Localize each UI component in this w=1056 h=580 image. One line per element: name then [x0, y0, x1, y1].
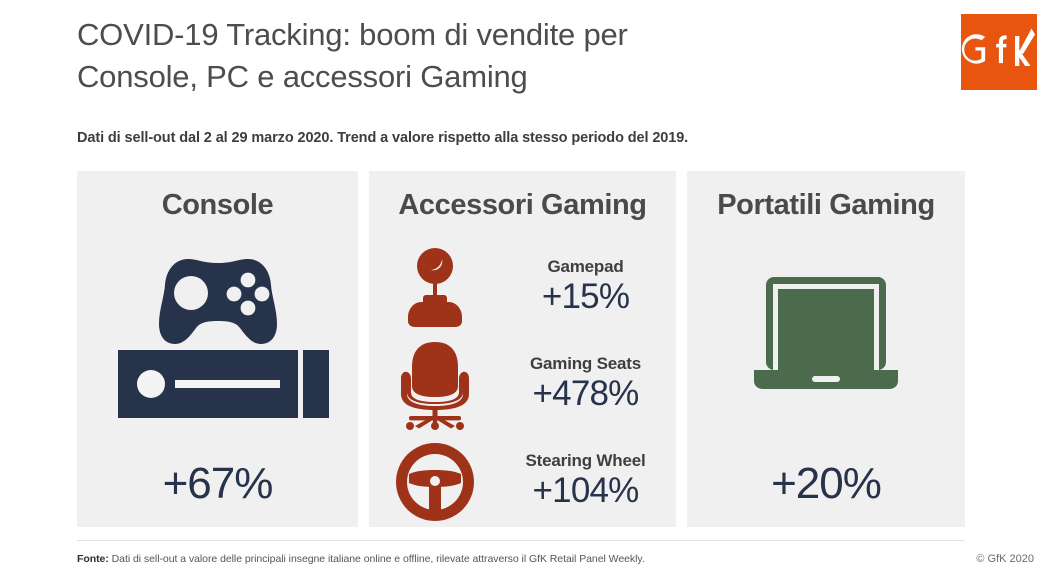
console-box-icon	[118, 350, 329, 418]
gamepad-console-icon	[77, 253, 358, 418]
footer-divider	[77, 540, 965, 541]
accessori-value: +15%	[501, 277, 670, 317]
accessori-text: Gamepad +15%	[501, 258, 676, 318]
footer-copyright: © GfK 2020	[976, 553, 1034, 565]
joystick-icon	[369, 247, 501, 329]
footer-source: Fonte: Dati di sell-out a valore delle p…	[77, 553, 645, 565]
console-illustration	[107, 253, 329, 418]
laptop-illustration	[750, 275, 902, 391]
accessori-text: Stearing Wheel +104%	[501, 452, 676, 512]
steering-wheel-illustration	[394, 441, 476, 523]
accessori-label: Gamepad	[501, 258, 670, 277]
gfk-logo-mark	[961, 14, 1037, 90]
page-header: COVID-19 Tracking: boom di vendite per C…	[77, 14, 937, 98]
gaming-chair-icon	[369, 340, 501, 430]
panel-accessori-gaming: Accessori Gaming Gamepad +15%	[369, 171, 676, 527]
gamepad-icon	[159, 259, 277, 344]
accessori-value: +478%	[501, 374, 670, 414]
gfk-logo	[961, 14, 1037, 90]
accessori-value: +104%	[501, 471, 670, 511]
page-title: COVID-19 Tracking: boom di vendite per C…	[77, 14, 937, 98]
panel-console: Console	[77, 171, 358, 527]
accessori-row: Gaming Seats +478%	[369, 336, 676, 433]
accessori-rows: Gamepad +15%	[369, 239, 676, 530]
accessori-row: Stearing Wheel +104%	[369, 433, 676, 530]
page-subtitle: Dati di sell-out dal 2 al 29 marzo 2020.…	[77, 130, 688, 146]
footer-source-label: Fonte:	[77, 553, 109, 565]
panels-row: Console	[77, 171, 965, 527]
accessori-row: Gamepad +15%	[369, 239, 676, 336]
steering-wheel-icon	[369, 441, 501, 523]
panel-portatili-title: Portatili Gaming	[687, 189, 965, 222]
joystick-illustration	[398, 247, 472, 329]
accessori-label: Gaming Seats	[501, 355, 670, 374]
gaming-chair-illustration	[393, 340, 477, 430]
accessori-label: Stearing Wheel	[501, 452, 670, 471]
panel-console-value: +67%	[77, 459, 358, 509]
panel-accessori-title: Accessori Gaming	[369, 189, 676, 222]
accessori-text: Gaming Seats +478%	[501, 355, 676, 415]
footer-source-text: Dati di sell-out a valore delle principa…	[109, 553, 645, 565]
panel-portatili-value: +20%	[687, 459, 965, 509]
panel-portatili-gaming: Portatili Gaming +20%	[687, 171, 965, 527]
laptop-icon	[687, 275, 965, 391]
panel-console-title: Console	[77, 189, 358, 222]
